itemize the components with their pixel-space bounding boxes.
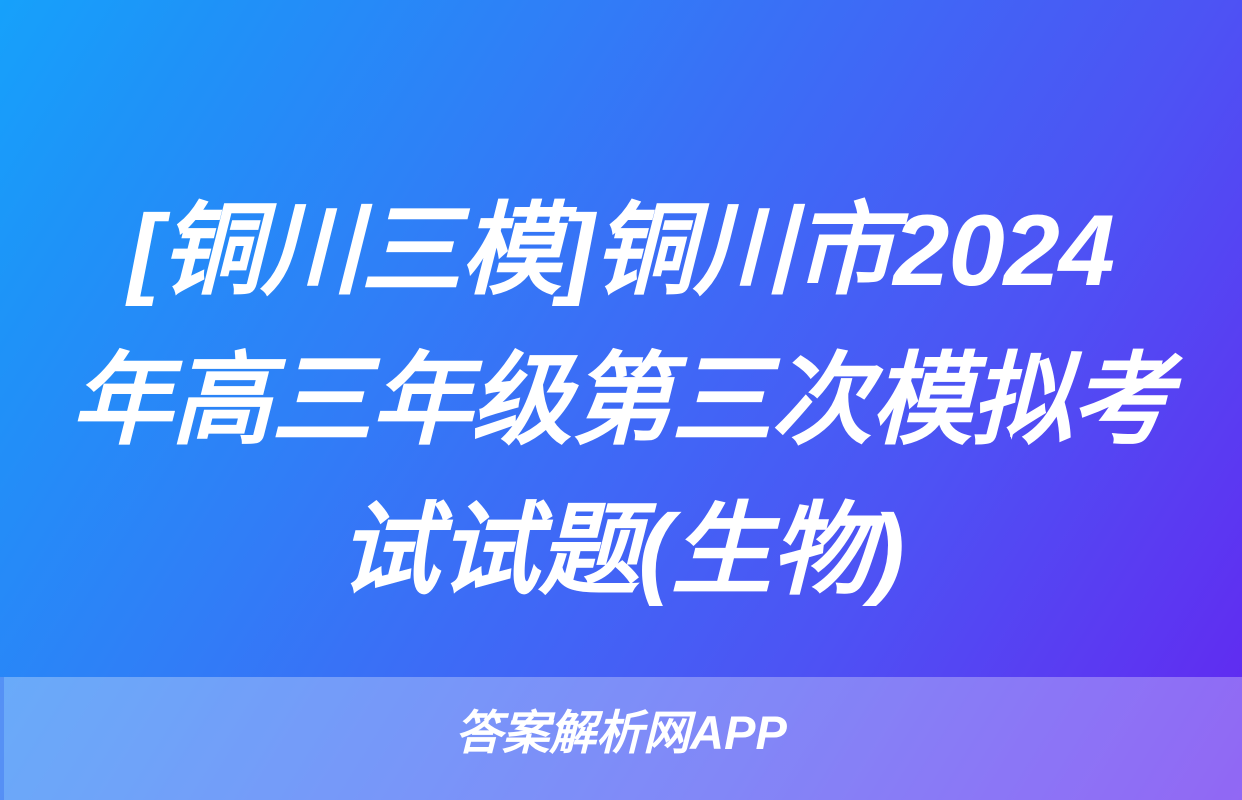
title-line-2: 年高三年级第三次模拟考 [56, 326, 1186, 476]
app-watermark: 答案解析网APP [0, 703, 1242, 763]
title-line-1: [铜川三模]铜川市2024 [56, 176, 1186, 326]
page-title: [铜川三模]铜川市2024 年高三年级第三次模拟考 试试题(生物) [0, 176, 1242, 626]
poster-canvas: [铜川三模]铜川市2024 年高三年级第三次模拟考 试试题(生物) 答案解析网A… [0, 0, 1242, 800]
title-line-3: 试试题(生物) [56, 476, 1186, 626]
